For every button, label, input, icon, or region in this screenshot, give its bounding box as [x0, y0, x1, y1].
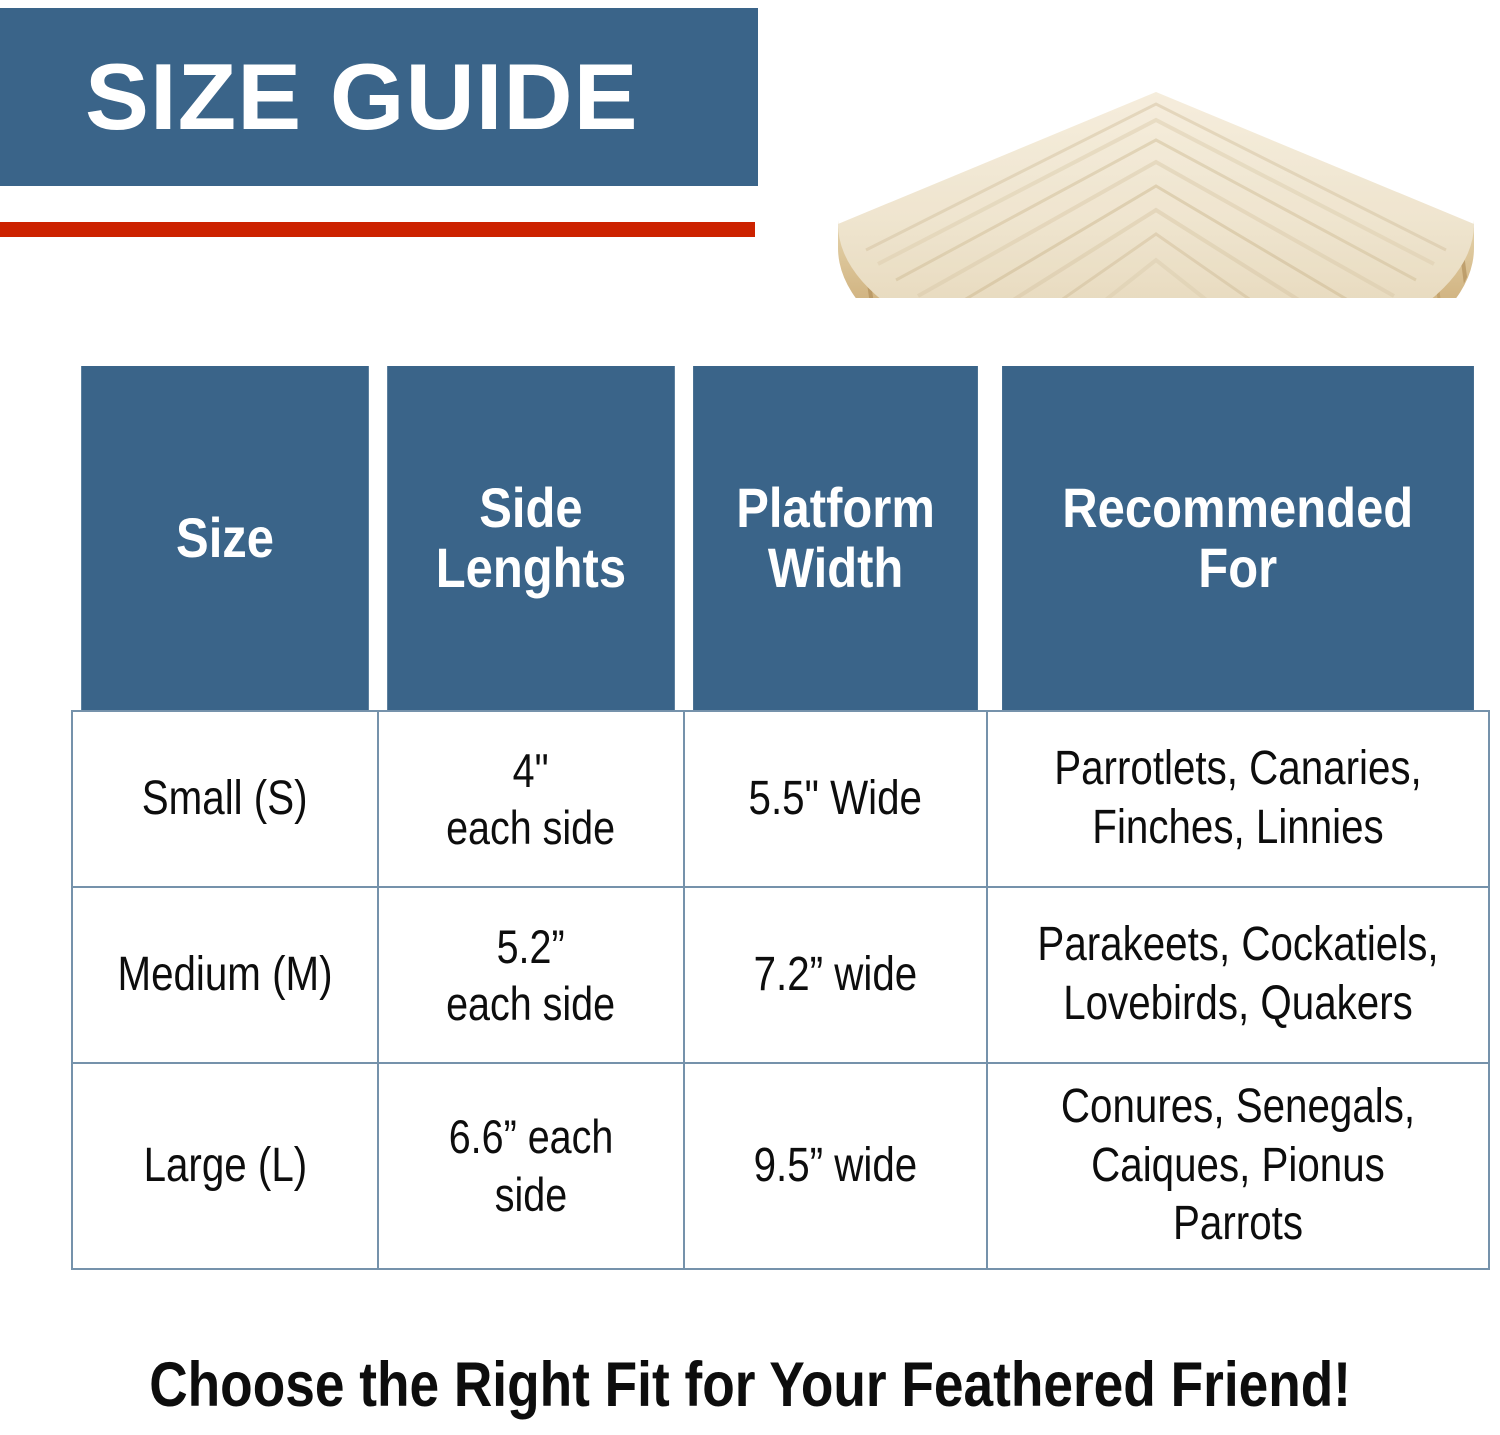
footer-caption: Choose the Right Fit for Your Feathered … — [0, 1352, 1500, 1418]
column-header-side-lengths-label: Side Lenghts — [436, 478, 626, 599]
page-title: SIZE GUIDE — [85, 50, 639, 144]
column-header-recommended-for-label: Recommended For — [1063, 478, 1414, 599]
cell-side-lengths-value: 4" each side — [446, 742, 615, 857]
top-face-highlight — [838, 92, 1474, 298]
cell-side-lengths: 4" each side — [378, 711, 684, 887]
cell-size-value: Small (S) — [142, 770, 308, 829]
table-row: Large (L) 6.6” each side 9.5” wide Conur… — [72, 1063, 1489, 1269]
column-header-size-label: Size — [176, 508, 274, 568]
cell-recommended-for-value: Parakeets, Cockatiels, Lovebirds, Quaker… — [1035, 916, 1442, 1033]
size-guide-infographic: SIZE GUIDE — [0, 0, 1500, 1435]
cell-size-value: Large (L) — [143, 1137, 307, 1196]
cell-platform-width: 9.5” wide — [684, 1063, 987, 1269]
cell-platform-width-value: 9.5” wide — [754, 1137, 918, 1196]
cell-side-lengths-value: 5.2” each side — [446, 918, 615, 1033]
size-guide-table: Size Side Lenghts Platform Width Recomme… — [71, 366, 1490, 1270]
cell-size: Large (L) — [72, 1063, 378, 1269]
header-banner: SIZE GUIDE — [0, 8, 758, 186]
column-header-side-lengths: Side Lenghts — [387, 366, 675, 711]
cell-side-lengths-value: 6.6” each side — [410, 1108, 652, 1223]
cell-side-lengths: 6.6” each side — [378, 1063, 684, 1269]
red-accent-rule — [0, 222, 755, 237]
column-header-size: Size — [81, 366, 369, 711]
table-header-row: Size Side Lenghts Platform Width Recomme… — [72, 366, 1489, 711]
cell-size: Medium (M) — [72, 887, 378, 1063]
cell-size: Small (S) — [72, 711, 378, 887]
cell-recommended-for-value: Conures, Senegals, Caiques, Pionus Parro… — [1035, 1078, 1442, 1254]
cell-platform-width: 7.2” wide — [684, 887, 987, 1063]
cell-recommended-for: Conures, Senegals, Caiques, Pionus Parro… — [987, 1063, 1489, 1269]
column-header-recommended-for: Recommended For — [1002, 366, 1474, 711]
cell-platform-width-value: 7.2” wide — [754, 946, 918, 1005]
cell-side-lengths: 5.2” each side — [378, 887, 684, 1063]
corner-shelf-product-image — [826, 74, 1486, 298]
table-row: Medium (M) 5.2” each side 7.2” wide Para… — [72, 887, 1489, 1063]
table-row: Small (S) 4" each side 5.5" Wide Parrotl… — [72, 711, 1489, 887]
cell-recommended-for: Parakeets, Cockatiels, Lovebirds, Quaker… — [987, 887, 1489, 1063]
corner-shelf-illustration — [826, 74, 1486, 298]
cell-recommended-for: Parrotlets, Canaries, Finches, Linnies — [987, 711, 1489, 887]
column-header-platform-width: Platform Width — [693, 366, 978, 711]
cell-size-value: Medium (M) — [117, 946, 332, 1005]
footer-caption-text: Choose the Right Fit for Your Feathered … — [149, 1352, 1351, 1418]
column-header-platform-width-label: Platform Width — [736, 478, 935, 599]
cell-platform-width-value: 5.5" Wide — [749, 770, 922, 829]
cell-platform-width: 5.5" Wide — [684, 711, 987, 887]
cell-recommended-for-value: Parrotlets, Canaries, Finches, Linnies — [1035, 740, 1442, 857]
